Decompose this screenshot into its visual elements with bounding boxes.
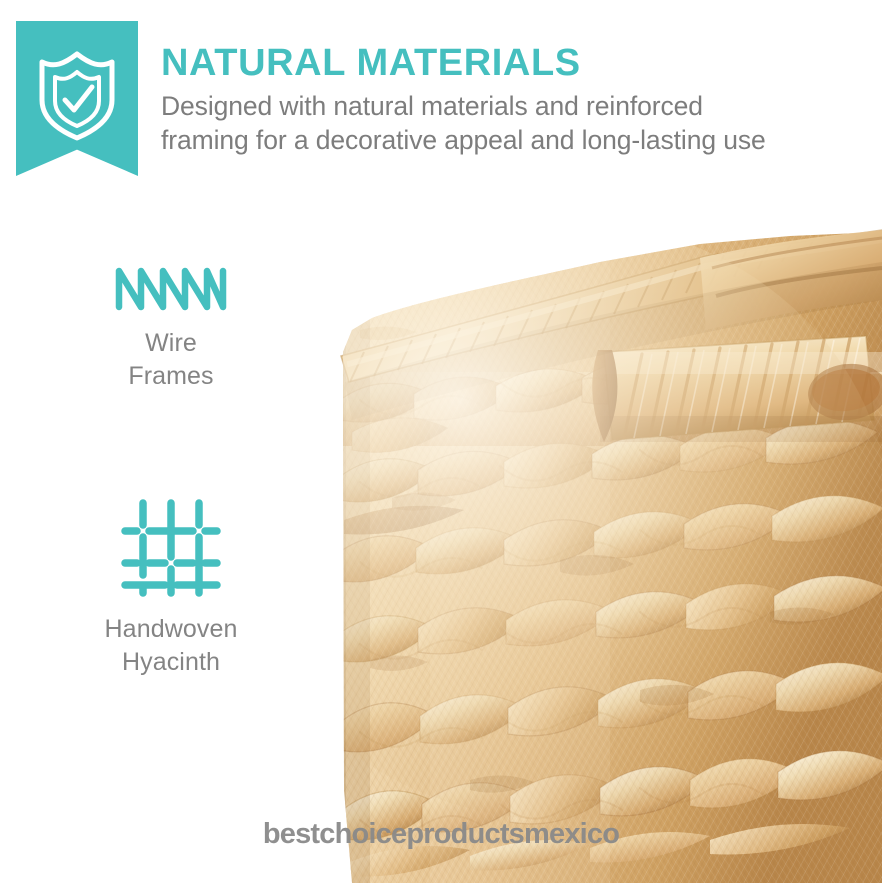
header-subtitle-line-2: framing for a decorative appeal and long… bbox=[161, 124, 861, 158]
feature-label-line: Frames bbox=[40, 360, 302, 393]
feature-label-line: Hyacinth bbox=[40, 646, 302, 679]
basket-rim bbox=[341, 213, 882, 382]
basket-weave-body bbox=[330, 220, 882, 883]
feature-item-handwoven-hyacinth: Handwoven Hyacinth bbox=[40, 495, 302, 679]
woven-grid-icon bbox=[119, 495, 223, 599]
page-title: NATURAL MATERIALS bbox=[161, 44, 861, 82]
watermark-text: bestchoiceproductsmexico bbox=[0, 818, 882, 851]
header-text-block: NATURAL MATERIALS Designed with natural … bbox=[161, 44, 861, 158]
spring-coil-icon bbox=[111, 265, 231, 313]
feature-label-handwoven-hyacinth: Handwoven Hyacinth bbox=[40, 613, 302, 679]
header-subtitle-line-1: Designed with natural materials and rein… bbox=[161, 90, 861, 124]
shield-check-icon bbox=[34, 46, 120, 142]
feature-list: Wire Frames bbox=[40, 265, 302, 679]
feature-label-line: Handwoven bbox=[40, 613, 302, 646]
feature-label-line: Wire bbox=[40, 327, 302, 360]
infographic-canvas: NATURAL MATERIALS Designed with natural … bbox=[0, 0, 882, 883]
basket-handle bbox=[592, 336, 882, 442]
feature-label-wire-frames: Wire Frames bbox=[40, 327, 302, 393]
feature-item-wire-frames: Wire Frames bbox=[40, 265, 302, 393]
